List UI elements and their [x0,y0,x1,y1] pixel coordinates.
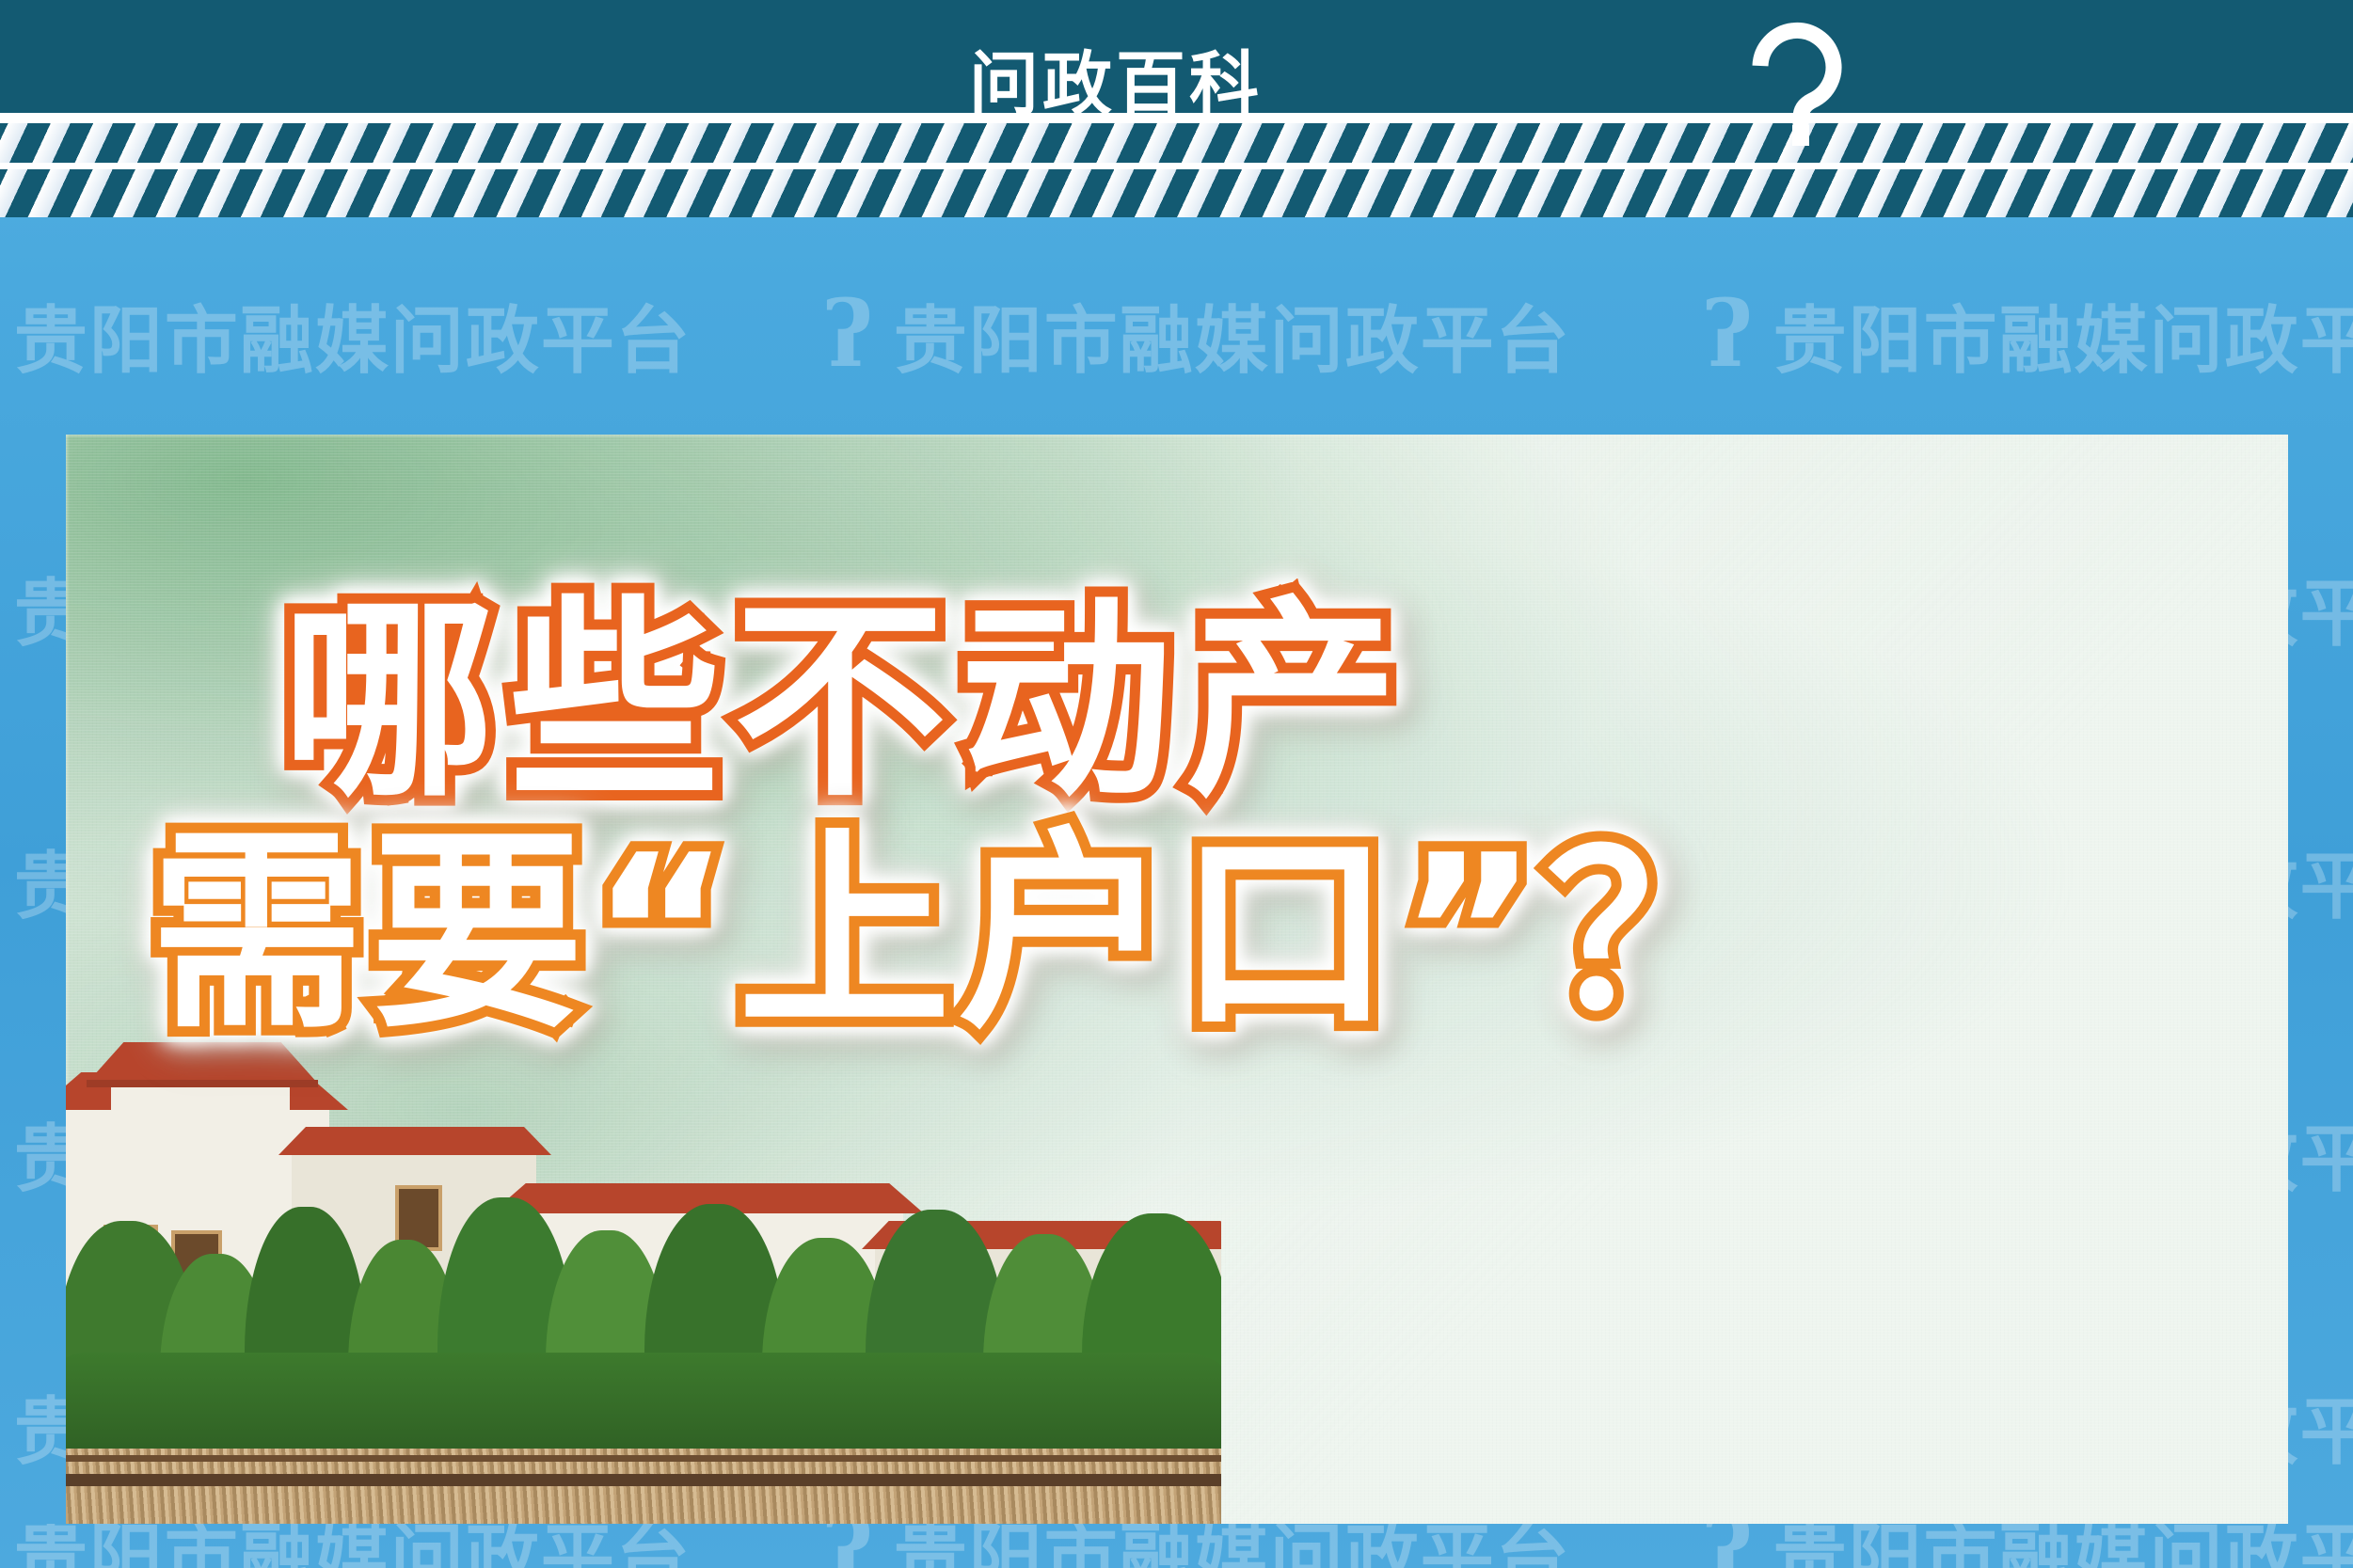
watermark-row: ʕ贵阳市融媒问政平台ʕ贵阳市融媒问政平台ʕ贵阳市融媒问政平台ʕ贵阳市融媒问政平台 [0,1524,2353,1568]
stripe-separator-rule [0,163,2353,169]
header-bottom-rule [0,113,2353,123]
stripe-pattern [0,123,2353,168]
stripe-band-bottom [0,168,2353,217]
watermark-text: 贵阳市融媒问政平台 [1773,1524,2353,1568]
watermark-logo-icon: ʕ [823,1524,873,1568]
villa-photo [66,961,1221,1524]
tree-row [66,1174,1221,1456]
question-mark-icon [1745,19,1849,146]
watermark-text: 贵阳市融媒问政平台 [894,1524,1571,1568]
watermark-item: ʕ贵阳市融媒问政平台 [0,1524,692,1568]
header-bar: 问政百科 [0,0,2353,113]
watermark-item: ʕ贵阳市融媒问政平台 [1703,1524,2353,1568]
watermark-text: 贵阳市融媒问政平台 [14,1524,692,1568]
watermark-logo-icon: ʕ [1703,1524,1753,1568]
reed-fence-rail-top [66,1455,1221,1462]
stripe-pattern [0,168,2353,217]
bottom-watermark-band: ʕ贵阳市融媒问政平台ʕ贵阳市融媒问政平台ʕ贵阳市融媒问政平台ʕ贵阳市融媒问政平台 [0,1524,2353,1568]
watermark-item: ʕ贵阳市融媒问政平台 [823,1524,1571,1568]
reed-fence-rail [66,1474,1221,1486]
stripe-band-top [0,123,2353,168]
content-card: 哪些不动产 需要“上户口”？ [66,435,2288,1524]
